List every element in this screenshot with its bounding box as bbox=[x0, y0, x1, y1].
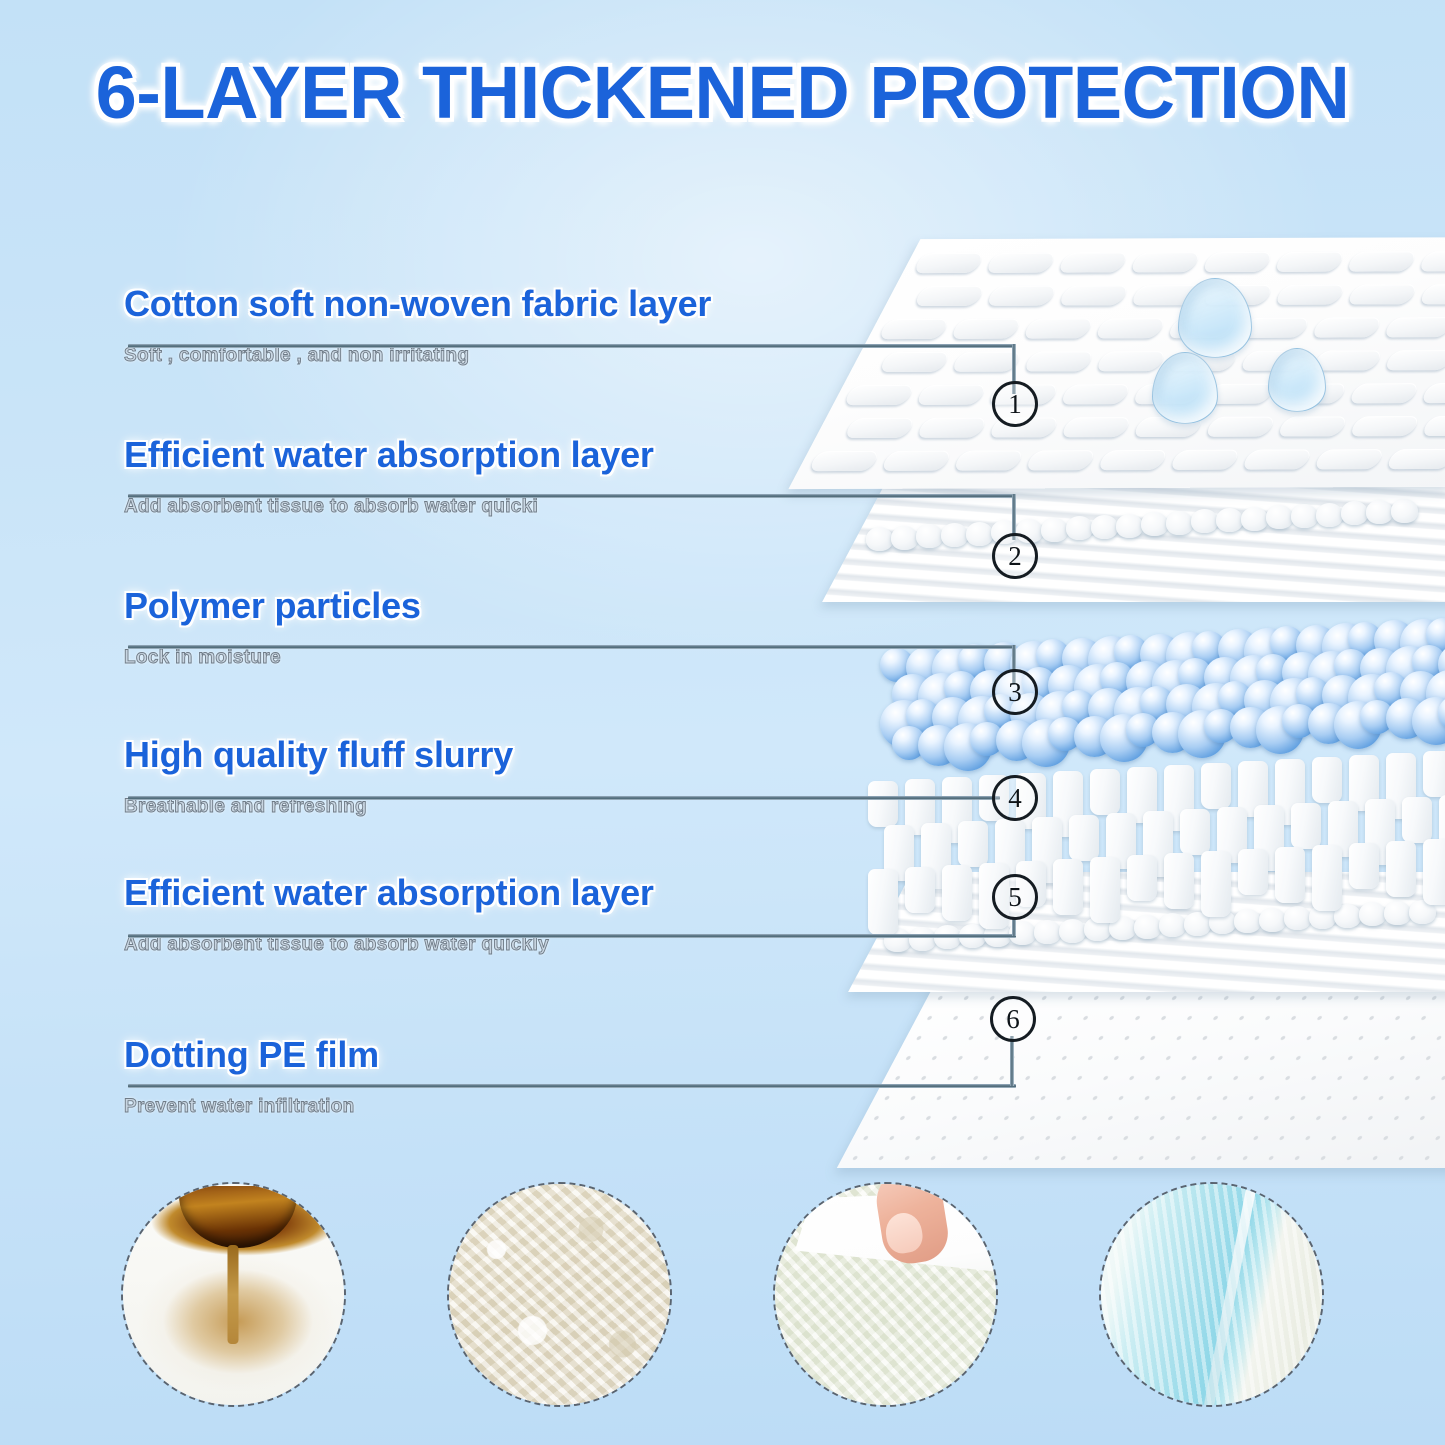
tissue-bead bbox=[1209, 910, 1236, 934]
tissue-bead bbox=[1216, 508, 1243, 532]
embossed-pill bbox=[1313, 449, 1386, 469]
embossed-pill bbox=[950, 319, 1023, 339]
water-droplet-large bbox=[1178, 278, 1252, 358]
tissue-bead bbox=[1116, 514, 1143, 538]
layer-block-3: Polymer particles Lock in moisture bbox=[124, 585, 421, 669]
polymer-particle bbox=[1374, 672, 1408, 706]
embossed-pill bbox=[1204, 417, 1277, 437]
photo-blue-white-fabric-layers bbox=[1099, 1182, 1324, 1407]
fluff-tuft bbox=[1386, 841, 1416, 897]
layer-title-2: Efficient water absorption layer bbox=[124, 434, 654, 476]
polymer-particle bbox=[1192, 631, 1226, 665]
polymer-particle bbox=[970, 722, 1004, 756]
fluff-tuft bbox=[1127, 855, 1157, 901]
polymer-particle bbox=[1374, 620, 1415, 661]
layer-block-1: Cotton soft non-woven fabric layer Soft … bbox=[124, 283, 711, 367]
fluff-tuft bbox=[1423, 839, 1445, 905]
embossed-pill bbox=[952, 450, 1025, 470]
tissue-bead bbox=[1241, 507, 1268, 531]
tissue-bead bbox=[1091, 515, 1118, 539]
polymer-particle bbox=[1296, 625, 1337, 666]
polymer-particle bbox=[1126, 661, 1167, 702]
polymer-particle bbox=[1308, 651, 1356, 699]
tissue-bead bbox=[1316, 503, 1343, 527]
tissue-bead bbox=[1159, 913, 1186, 937]
polymer-particle bbox=[1022, 719, 1070, 767]
polymer-particle bbox=[1256, 654, 1290, 688]
polymer-particle bbox=[1244, 680, 1285, 721]
embossed-pill bbox=[1311, 350, 1384, 370]
polymer-particle bbox=[1178, 710, 1226, 758]
fluff-tuft bbox=[868, 869, 898, 935]
tissue-bead bbox=[1166, 511, 1193, 535]
embossed-pill bbox=[1383, 317, 1445, 337]
polymer-particle bbox=[1100, 662, 1134, 696]
polymer-particle bbox=[1296, 677, 1330, 711]
polymer-particle bbox=[1074, 664, 1122, 712]
fluff-tuft bbox=[1386, 753, 1416, 819]
polymer-particle bbox=[1218, 629, 1259, 670]
layer-marker-4[interactable]: 4 bbox=[992, 775, 1038, 821]
embossed-pill bbox=[1094, 318, 1167, 338]
layer-marker-1[interactable]: 1 bbox=[992, 381, 1038, 427]
photo-blue-white-fabric-layers-image bbox=[1099, 1182, 1324, 1407]
fluff-tuft bbox=[1201, 763, 1231, 809]
layer-subtitle-1: Soft , comfortable , and non irritating bbox=[124, 345, 711, 367]
fluff-tuft bbox=[1312, 845, 1342, 911]
tissue-bead bbox=[1034, 920, 1061, 944]
polymer-particle bbox=[1412, 645, 1445, 679]
layer-block-5: Efficient water absorption layer Add abs… bbox=[124, 872, 654, 956]
layer-subtitle-2: Add absorbent tissue to absorb water qui… bbox=[124, 496, 654, 518]
connector-line-4 bbox=[128, 796, 1000, 800]
tissue-bead bbox=[1109, 916, 1136, 940]
tissue-bead bbox=[1309, 905, 1336, 929]
fluff-slurry-layer bbox=[868, 735, 1445, 910]
embossed-pill bbox=[1024, 450, 1097, 470]
polymer-particle bbox=[1386, 698, 1427, 739]
embossed-pill bbox=[1274, 285, 1347, 305]
layer-marker-6[interactable]: 6 bbox=[990, 996, 1036, 1042]
polymer-particle bbox=[1348, 622, 1382, 656]
embossed-pill bbox=[1348, 416, 1421, 436]
fluff-tuft bbox=[1238, 761, 1268, 817]
embossed-pill bbox=[1241, 449, 1314, 469]
spoon-shape bbox=[179, 1186, 297, 1248]
absorbent-tissue-sheet-upper bbox=[822, 452, 1445, 602]
polymer-particle bbox=[1048, 665, 1089, 706]
fluff-tuft bbox=[1349, 843, 1379, 889]
absorbent-tissue-sheet-lower bbox=[848, 872, 1445, 992]
fluff-tuft bbox=[1069, 815, 1099, 861]
polymer-particle bbox=[944, 671, 978, 705]
tissue-bead bbox=[1391, 499, 1418, 523]
embossed-pill bbox=[1022, 318, 1095, 338]
polymer-particle bbox=[1322, 675, 1363, 716]
embossed-pill bbox=[1129, 285, 1202, 305]
connector-line-5 bbox=[128, 934, 1016, 938]
tissue-bead bbox=[1409, 900, 1436, 924]
embossed-pill bbox=[1059, 384, 1132, 404]
tissue-bead bbox=[1234, 909, 1261, 933]
fluff-tuft bbox=[1312, 757, 1342, 803]
embossed-pill bbox=[1238, 318, 1311, 338]
fluff-tuft bbox=[1238, 849, 1268, 895]
polymer-particle bbox=[918, 673, 966, 721]
polymer-particle bbox=[1270, 678, 1318, 726]
embossed-pill bbox=[1167, 351, 1240, 371]
polymer-particle bbox=[1088, 688, 1129, 729]
embossed-pill-row bbox=[797, 449, 1445, 473]
embossed-pill bbox=[915, 385, 988, 405]
embossed-pill-row bbox=[901, 251, 1445, 275]
tissue-bead bbox=[1084, 917, 1111, 941]
fluff-tuft bbox=[1032, 817, 1062, 883]
polymer-particle bbox=[1244, 628, 1292, 676]
tissue-bead bbox=[1041, 518, 1068, 542]
layer-subtitle-6: Prevent water infiltration bbox=[124, 1096, 379, 1118]
fluff-tuft bbox=[1365, 799, 1395, 865]
embossed-pill bbox=[1417, 251, 1445, 271]
layer-title-3: Polymer particles bbox=[124, 585, 421, 627]
polymer-particle bbox=[1140, 634, 1181, 675]
polymer-particle bbox=[1334, 649, 1368, 683]
tissue-bead bbox=[891, 526, 918, 550]
photo-fluff-pulp-texture bbox=[447, 1182, 672, 1407]
polymer-particle bbox=[1230, 707, 1271, 748]
polymer-particle bbox=[1426, 618, 1445, 652]
polymer-particle bbox=[1152, 712, 1193, 753]
polymer-particle bbox=[944, 723, 992, 771]
embossed-pill bbox=[1276, 383, 1349, 403]
water-droplet-small bbox=[1268, 348, 1326, 412]
embossed-pill-row bbox=[849, 350, 1445, 374]
polymer-particle bbox=[996, 720, 1037, 761]
layer-title-5: Efficient water absorption layer bbox=[124, 872, 654, 914]
fluff-tuft bbox=[905, 779, 935, 835]
layer-marker-2[interactable]: 2 bbox=[992, 533, 1038, 579]
fluff-tuft bbox=[1053, 771, 1083, 837]
embossed-pill-row bbox=[884, 284, 1445, 308]
fluff-tuft bbox=[1217, 807, 1247, 863]
polymer-particle bbox=[1140, 686, 1174, 720]
polymer-particle bbox=[1256, 706, 1304, 754]
embossed-pill bbox=[1096, 450, 1169, 470]
polymer-particle bbox=[1062, 638, 1103, 679]
fluff-tuft bbox=[921, 823, 951, 889]
layer-subtitle-3: Lock in moisture bbox=[124, 647, 421, 669]
connector-line-1 bbox=[128, 344, 1016, 348]
polymer-particle bbox=[1192, 683, 1240, 731]
layer-block-2: Efficient water absorption layer Add abs… bbox=[124, 434, 654, 518]
embossed-pill bbox=[1345, 251, 1418, 271]
polymer-particle bbox=[1438, 696, 1445, 730]
embossed-pill bbox=[1166, 318, 1239, 338]
polymer-particle bbox=[1400, 619, 1445, 667]
embossed-pill bbox=[1095, 351, 1168, 371]
connector-stub-5 bbox=[1012, 918, 1016, 936]
tissue-bead bbox=[1359, 902, 1386, 926]
polymer-particle bbox=[1166, 632, 1214, 680]
polymer-particle bbox=[1360, 648, 1401, 689]
tissue-bead bbox=[1366, 500, 1393, 524]
tissue-bead bbox=[1291, 504, 1318, 528]
polymer-particle bbox=[1386, 646, 1434, 694]
photo-liquid-absorption-test bbox=[121, 1182, 346, 1407]
fluff-tuft bbox=[884, 825, 914, 881]
embossed-pill bbox=[1132, 417, 1205, 437]
layer-block-4: High quality fluff slurry Breathable and… bbox=[124, 734, 513, 818]
polymer-particle-band bbox=[880, 600, 1445, 740]
embossed-pill bbox=[1348, 383, 1421, 403]
embossed-pill bbox=[1310, 317, 1383, 337]
embossed-pill bbox=[985, 253, 1058, 273]
embossed-pill bbox=[1169, 450, 1242, 470]
polymer-particle bbox=[1400, 671, 1441, 712]
tissue-bead bbox=[1284, 906, 1311, 930]
embossed-pill bbox=[1022, 351, 1095, 371]
polymer-particle bbox=[1036, 639, 1070, 673]
polymer-particle bbox=[1166, 684, 1207, 725]
polymer-particle bbox=[1308, 703, 1349, 744]
polymer-particle bbox=[918, 725, 959, 766]
polymer-particle bbox=[892, 726, 926, 760]
fluff-tuft bbox=[1180, 809, 1210, 855]
embossed-pill bbox=[1239, 351, 1312, 371]
embossed-pill bbox=[878, 352, 951, 372]
non-woven-top-sheet bbox=[788, 237, 1445, 489]
layer-marker-5[interactable]: 5 bbox=[992, 874, 1038, 920]
tissue-bead bbox=[1059, 919, 1086, 943]
embossed-pill bbox=[1057, 252, 1130, 272]
water-droplet-medium bbox=[1152, 352, 1218, 424]
fluff-tuft bbox=[1106, 813, 1136, 869]
polymer-particle bbox=[892, 674, 933, 715]
tissue-bead bbox=[1266, 505, 1293, 529]
tissue-bead bbox=[1191, 509, 1218, 533]
embossed-pill bbox=[1276, 416, 1349, 436]
embossed-pill bbox=[1346, 284, 1419, 304]
polymer-particle bbox=[906, 647, 947, 688]
product-infographic-poster: 6-LAYER THICKENED PROTECTION Cotton soft… bbox=[0, 0, 1445, 1445]
photo-peeling-film-layer bbox=[773, 1182, 998, 1407]
fabric-fold-shape bbox=[1201, 1182, 1260, 1407]
layer-title-4: High quality fluff slurry bbox=[124, 734, 513, 776]
polymer-particle bbox=[1282, 652, 1323, 693]
embossed-pill bbox=[1385, 449, 1445, 469]
embossed-pill-row bbox=[867, 317, 1445, 341]
embossed-pill-row bbox=[832, 383, 1445, 407]
photo-liquid-absorption-test-image bbox=[121, 1182, 346, 1407]
polymer-particle bbox=[1152, 660, 1200, 708]
fluff-tuft bbox=[1164, 765, 1194, 831]
tissue-bead bbox=[916, 524, 943, 548]
embossed-pill bbox=[1202, 285, 1275, 305]
polymer-particle bbox=[1334, 701, 1382, 749]
embossed-pill bbox=[1383, 350, 1445, 370]
polymer-particle bbox=[932, 697, 973, 738]
polymer-particle bbox=[1360, 700, 1394, 734]
embossed-pill bbox=[1060, 417, 1133, 437]
polymer-particle bbox=[880, 648, 914, 682]
fluff-tuft bbox=[1291, 803, 1321, 849]
polymer-particle bbox=[1074, 716, 1115, 757]
embossed-pill bbox=[1057, 285, 1130, 305]
fluff-tuft bbox=[1143, 811, 1173, 877]
embossed-pill bbox=[808, 451, 881, 471]
fluff-tuft bbox=[1164, 853, 1194, 909]
polymer-particle bbox=[1438, 644, 1445, 685]
polymer-particle bbox=[1088, 636, 1136, 684]
polymer-particle bbox=[1062, 690, 1096, 724]
connector-line-2 bbox=[128, 494, 1016, 498]
connector-stub-6 bbox=[1010, 1036, 1014, 1086]
polymer-particle bbox=[906, 699, 940, 733]
layer-title-1: Cotton soft non-woven fabric layer bbox=[124, 283, 711, 325]
embossed-pill bbox=[1201, 252, 1274, 272]
layer-block-6: Dotting PE film Prevent water infiltrati… bbox=[124, 1034, 379, 1118]
fluff-tuft bbox=[1439, 795, 1445, 851]
photo-fluff-pulp-texture-image bbox=[447, 1182, 672, 1407]
fluff-tuft bbox=[995, 819, 1025, 875]
embossed-pill bbox=[1129, 252, 1202, 272]
embossed-pill bbox=[912, 253, 985, 273]
polymer-particle bbox=[1230, 655, 1278, 703]
fluff-tuft bbox=[1201, 851, 1231, 917]
polymer-particle bbox=[1426, 670, 1445, 718]
polymer-particle bbox=[1114, 635, 1148, 669]
tissue-bead bbox=[884, 928, 911, 952]
embossed-pill bbox=[880, 451, 953, 471]
polymer-particle bbox=[1048, 717, 1082, 751]
tissue-bead bbox=[966, 522, 993, 546]
fluff-tuft bbox=[1402, 797, 1432, 843]
connector-line-3 bbox=[128, 645, 1016, 649]
tissue-bead bbox=[1066, 516, 1093, 540]
embossed-pill bbox=[878, 319, 951, 339]
fluff-tuft bbox=[1275, 847, 1305, 903]
embossed-pill-row bbox=[814, 416, 1445, 440]
fluff-tuft bbox=[1090, 857, 1120, 923]
polymer-particle bbox=[1114, 687, 1162, 735]
embossed-pill bbox=[1131, 384, 1204, 404]
tissue-bead-row-upper bbox=[866, 527, 1445, 567]
fluff-tuft bbox=[942, 865, 972, 921]
embossed-pill bbox=[913, 286, 986, 306]
polymer-particle bbox=[1412, 697, 1445, 745]
polymer-particle bbox=[1270, 626, 1304, 660]
tissue-bead bbox=[1134, 915, 1161, 939]
layer-marker-3[interactable]: 3 bbox=[992, 669, 1038, 715]
tissue-bead bbox=[866, 527, 893, 551]
polymer-particle bbox=[1126, 713, 1160, 747]
polymer-particle bbox=[1282, 704, 1316, 738]
tissue-bead bbox=[1184, 912, 1211, 936]
feature-photo-row bbox=[0, 1169, 1445, 1419]
embossed-pill bbox=[1418, 284, 1445, 304]
embossed-pill bbox=[1273, 252, 1346, 272]
page-title: 6-LAYER THICKENED PROTECTION bbox=[0, 56, 1445, 130]
tissue-bead bbox=[1334, 904, 1361, 928]
polymer-particle bbox=[1218, 681, 1252, 715]
fluff-tuft bbox=[1275, 759, 1305, 825]
connector-line-6 bbox=[128, 1084, 1016, 1088]
fluff-tuft bbox=[1423, 751, 1445, 797]
polymer-particle bbox=[1036, 691, 1084, 739]
fluff-tuft bbox=[1053, 859, 1083, 915]
layer-title-6: Dotting PE film bbox=[124, 1034, 379, 1076]
polymer-particle bbox=[1322, 623, 1370, 671]
tissue-bead bbox=[941, 523, 968, 547]
tissue-bead bbox=[1259, 908, 1286, 932]
photo-peeling-film-layer-image bbox=[773, 1182, 998, 1407]
fluff-tuft bbox=[1127, 767, 1157, 823]
polymer-particle bbox=[1204, 657, 1245, 698]
embossed-pill bbox=[843, 385, 916, 405]
polymer-particle bbox=[1204, 709, 1238, 743]
fluff-tuft bbox=[942, 777, 972, 843]
fluff-tuft bbox=[1090, 769, 1120, 815]
fluff-tuft bbox=[958, 821, 988, 867]
polymer-particle bbox=[1178, 658, 1212, 692]
embossed-pill bbox=[915, 418, 988, 438]
dotted-pe-film-sheet bbox=[837, 968, 1445, 1168]
fluff-tuft bbox=[1349, 755, 1379, 811]
polymer-particle bbox=[932, 645, 980, 693]
embossed-pill bbox=[843, 418, 916, 438]
polymer-particle bbox=[880, 700, 928, 748]
polymer-particle bbox=[1348, 674, 1396, 722]
embossed-pill bbox=[985, 286, 1058, 306]
embossed-pill bbox=[1420, 416, 1445, 436]
fluff-tuft bbox=[868, 781, 898, 827]
tissue-bead bbox=[1141, 512, 1168, 536]
tissue-bead bbox=[909, 927, 936, 951]
fluff-tuft bbox=[905, 867, 935, 913]
polymer-particle bbox=[1100, 714, 1148, 762]
fluff-tuft bbox=[1254, 805, 1284, 871]
embossed-pill bbox=[1420, 383, 1445, 403]
fluff-tuft bbox=[1328, 801, 1358, 857]
liquid-stream-shape bbox=[228, 1245, 239, 1344]
tissue-bead bbox=[1341, 501, 1368, 525]
tissue-bead bbox=[1384, 901, 1411, 925]
embossed-pill bbox=[1203, 384, 1276, 404]
